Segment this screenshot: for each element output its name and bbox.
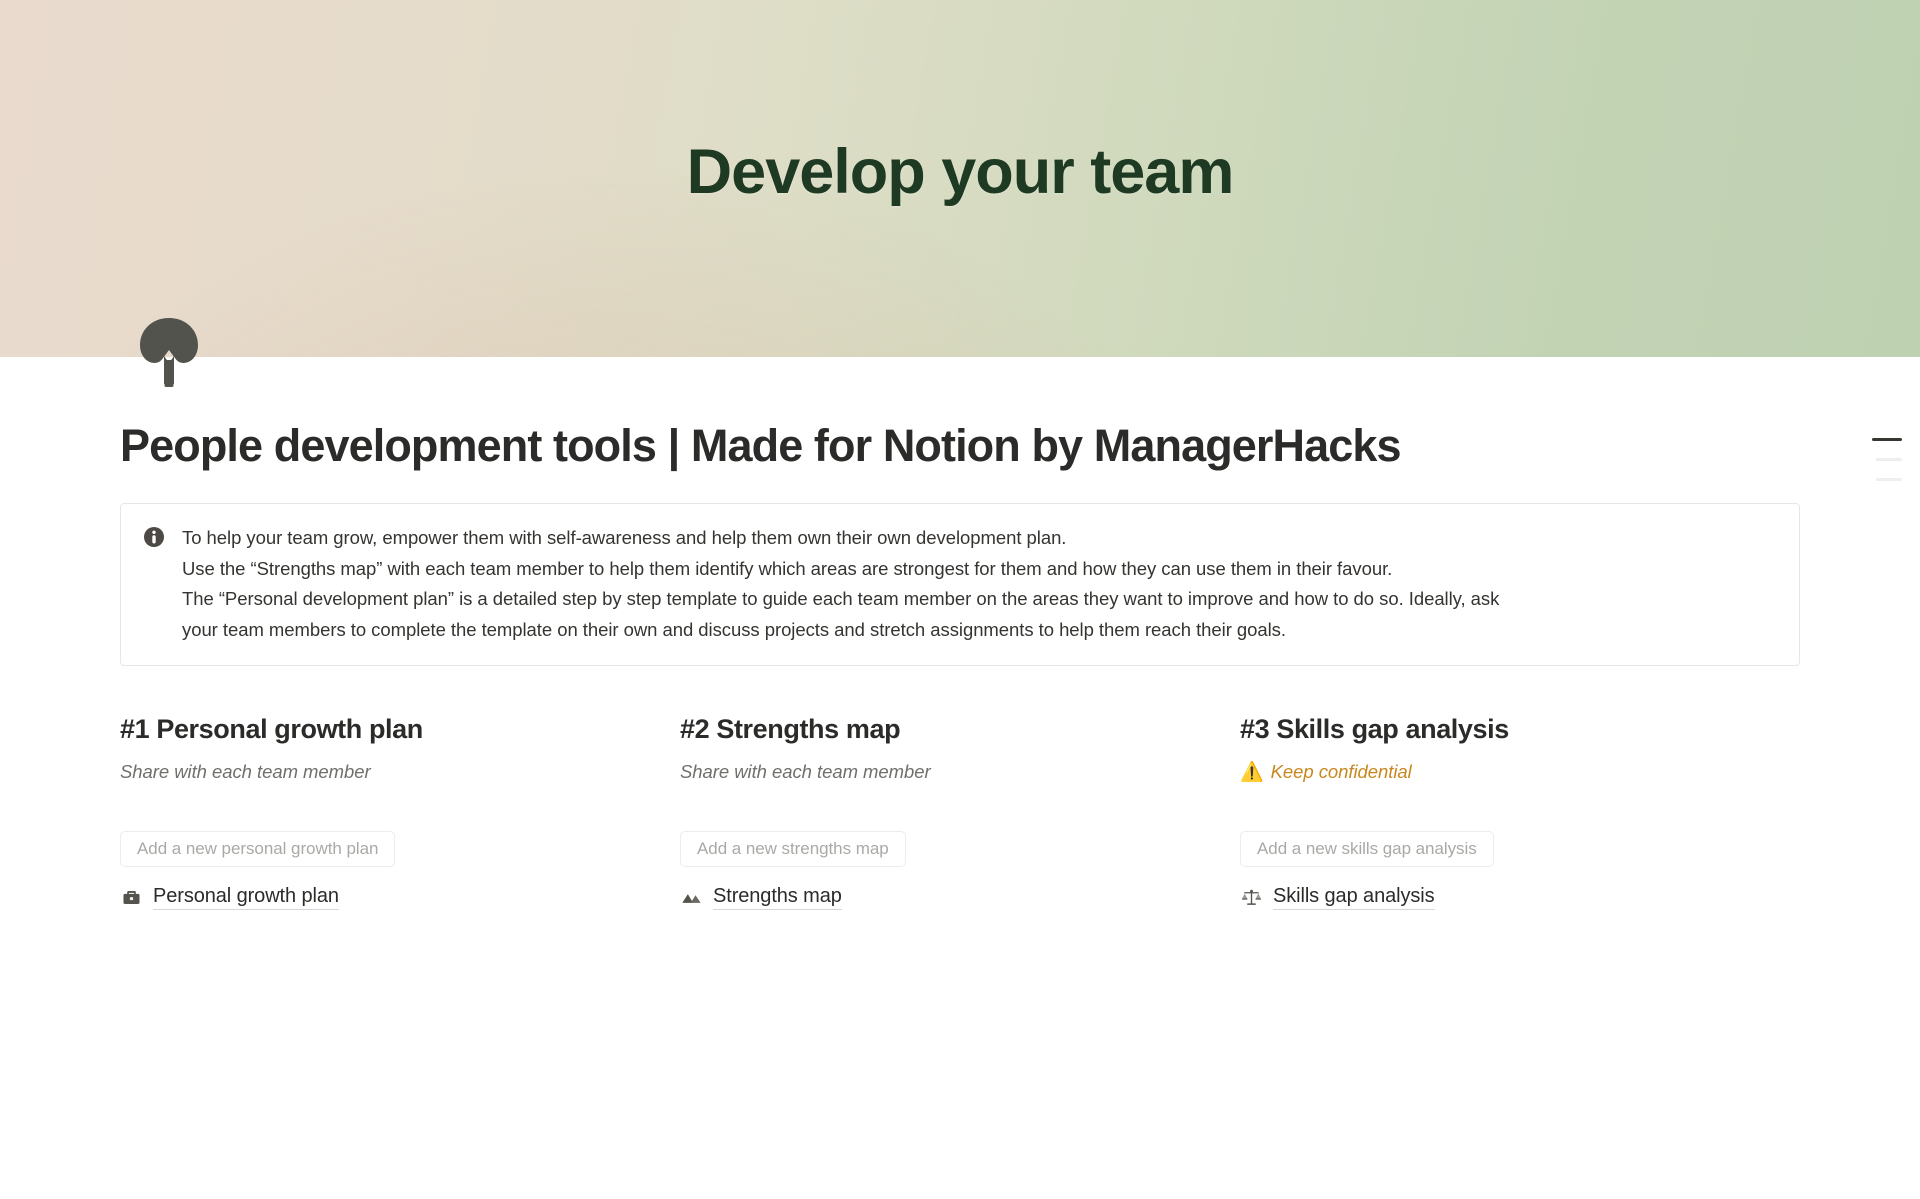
toc-indicator-active[interactable] [1872,438,1902,441]
column-title: #1 Personal growth plan [120,712,644,747]
callout-line: your team members to complete the templa… [182,615,1777,646]
balance-scale-icon [1240,887,1262,909]
column-subtitle-text: Share with each team member [680,761,931,783]
page-content: People development tools | Made for Noti… [0,357,1920,910]
briefcase-icon [120,887,142,909]
add-strengths-map-button[interactable]: Add a new strengths map [680,831,906,867]
database-link-personal-growth-plan[interactable]: Personal growth plan [120,885,644,910]
mountains-icon [680,887,702,909]
column-strengths-map: #2 Strengths map Share with each team me… [680,712,1240,910]
callout-block[interactable]: To help your team grow, empower them wit… [120,503,1800,666]
column-title: #2 Strengths map [680,712,1204,747]
add-personal-growth-plan-button[interactable]: Add a new personal growth plan [120,831,395,867]
callout-line: Use the “Strengths map” with each team m… [182,554,1777,585]
column-skills-gap-analysis: #3 Skills gap analysis ⚠️ Keep confident… [1240,712,1800,910]
callout-line: The “Personal development plan” is a det… [182,584,1777,615]
column-title: #3 Skills gap analysis [1240,712,1764,747]
database-link-skills-gap-analysis[interactable]: Skills gap analysis [1240,885,1764,910]
columns-container: #1 Personal growth plan Share with each … [120,712,1800,910]
page-title[interactable]: People development tools | Made for Noti… [120,420,1800,471]
database-link-label: Personal growth plan [153,885,339,910]
column-subtitle-text: Keep confidential [1271,761,1412,783]
database-link-strengths-map[interactable]: Strengths map [680,885,1204,910]
toc-indicator[interactable] [1876,458,1902,461]
database-link-label: Strengths map [713,885,842,910]
callout-text: To help your team grow, empower them wit… [182,523,1777,645]
database-link-label: Skills gap analysis [1273,885,1435,910]
column-subtitle: ⚠️ Keep confidential [1240,761,1764,783]
cover-title: Develop your team [0,0,1920,357]
column-subtitle: Share with each team member [120,761,644,783]
notion-page: Develop your team People development too… [0,0,1920,1199]
column-subtitle: Share with each team member [680,761,1204,783]
warning-icon: ⚠️ [1240,763,1264,782]
info-icon [143,526,165,548]
toc-indicator[interactable] [1876,478,1902,481]
column-subtitle-text: Share with each team member [120,761,371,783]
page-cover[interactable]: Develop your team [0,0,1920,357]
add-skills-gap-analysis-button[interactable]: Add a new skills gap analysis [1240,831,1494,867]
column-personal-growth-plan: #1 Personal growth plan Share with each … [120,712,680,910]
tree-icon[interactable] [130,312,208,390]
table-of-contents-rail[interactable] [1872,438,1902,481]
callout-line: To help your team grow, empower them wit… [182,523,1777,554]
